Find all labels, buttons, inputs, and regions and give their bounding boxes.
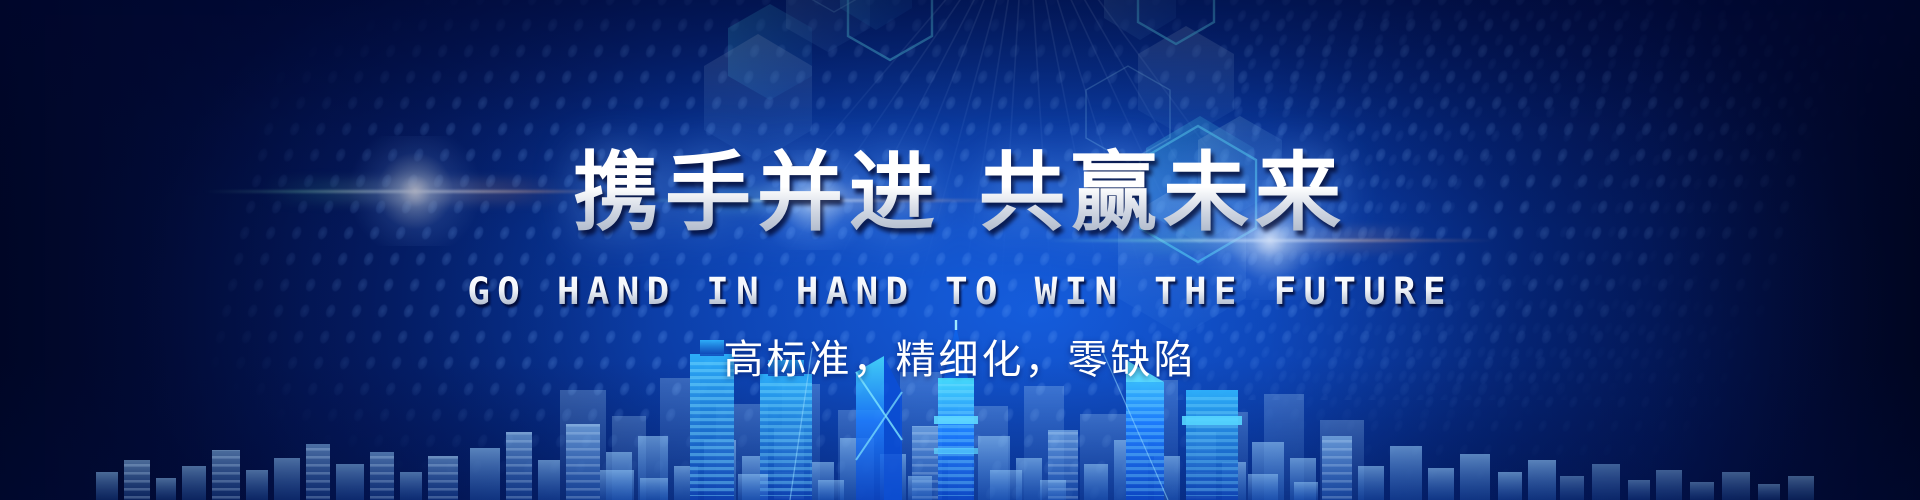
promo-banner: 携手并进共赢未来 GO HAND IN HAND TO WIN THE FUTU…: [0, 0, 1920, 500]
page-title: 携手并进共赢未来: [0, 122, 1920, 247]
tagline: 高标准，精细化，零缺陷: [0, 327, 1920, 385]
subtitle-english: GO HAND IN HAND TO WIN THE FUTURE: [0, 270, 1920, 313]
